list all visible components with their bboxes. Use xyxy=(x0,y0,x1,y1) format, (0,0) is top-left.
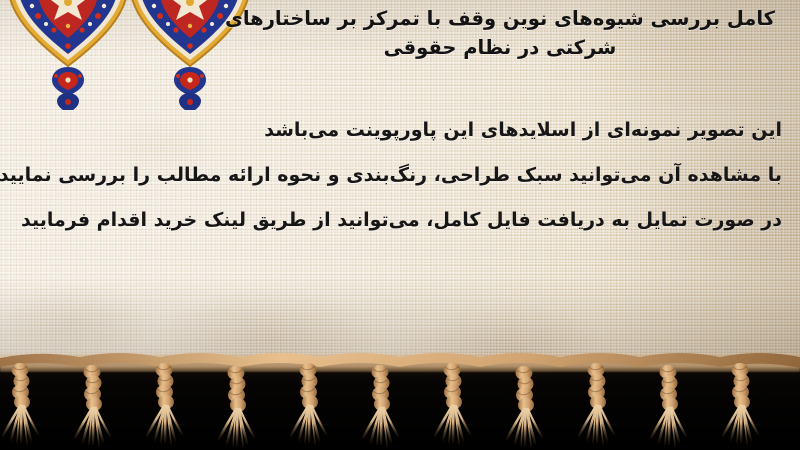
slide-title-line-2: شرکتی در نظام حقوقی xyxy=(384,36,617,59)
slide-body-line-2: با مشاهده آن می‌توانید سبک طراحی، رنگ‌بن… xyxy=(10,153,782,198)
slide-canvas: کامل بررسی شیوه‌های نوین وقف با تمرکز بر… xyxy=(0,0,800,450)
persian-carpet-medallion-left xyxy=(8,0,128,110)
fringe-tassel-row xyxy=(3,363,758,447)
slide-body-text: این تصویر نمونه‌ای از اسلایدهای این پاور… xyxy=(10,108,782,243)
slide-title: کامل بررسی شیوه‌های نوین وقف با تمرکز بر… xyxy=(222,4,778,62)
slide-body-line-1: این تصویر نمونه‌ای از اسلایدهای این پاور… xyxy=(10,108,782,153)
slide-title-line-1: کامل بررسی شیوه‌های نوین وقف با تمرکز بر… xyxy=(225,7,775,30)
slide-body-line-3: در صورت تمایل به دریافت فایل کامل، می‌تو… xyxy=(10,198,782,243)
fringe-binding-cord xyxy=(0,353,800,368)
carpet-fringe-tassels xyxy=(0,344,800,450)
persian-carpet-medallion-group xyxy=(0,0,250,110)
